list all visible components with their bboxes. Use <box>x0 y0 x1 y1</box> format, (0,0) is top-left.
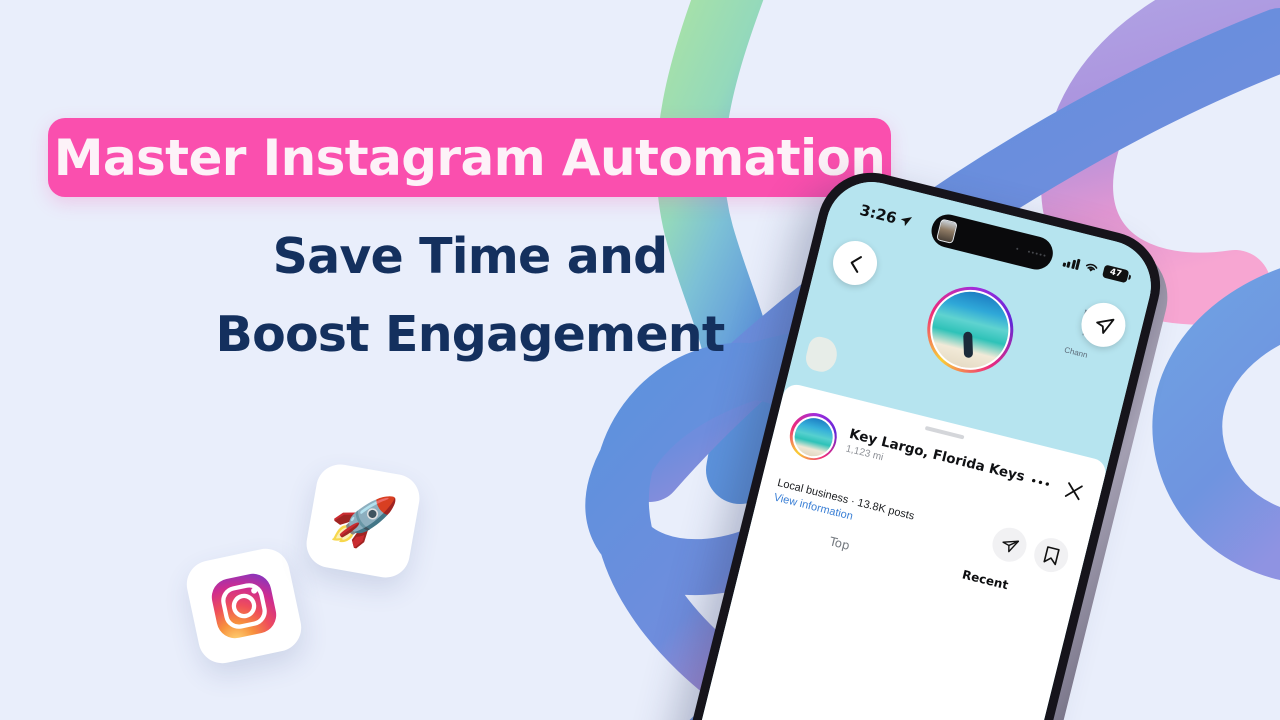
navigate-arrow-icon <box>1091 312 1116 337</box>
island-live-activity-thumbnail <box>936 218 958 243</box>
paper-plane-icon <box>998 533 1021 556</box>
bookmark-icon <box>1041 544 1062 567</box>
status-time-text: 3:26 <box>858 201 899 227</box>
save-button[interactable] <box>1031 534 1072 575</box>
subheadline: Save Time and Boost Engagement <box>110 218 830 374</box>
sheet-drag-handle[interactable] <box>925 426 965 440</box>
app-tile-instagram[interactable] <box>182 544 305 667</box>
place-avatar[interactable] <box>785 408 842 465</box>
subheadline-line-2: Boost Engagement <box>110 296 830 374</box>
close-x-icon <box>1062 479 1085 502</box>
rocket-icon: 🚀 <box>327 490 400 552</box>
close-sheet-button[interactable] <box>1060 477 1087 504</box>
location-arrow-icon <box>899 214 914 229</box>
island-bar <box>1016 247 1018 249</box>
wifi-icon <box>1083 260 1100 275</box>
place-avatar-image <box>788 411 839 462</box>
status-indicators: 47 <box>1062 254 1130 283</box>
chevron-left-icon <box>845 252 864 274</box>
cellular-bars-icon <box>1062 255 1081 270</box>
share-button[interactable] <box>989 524 1030 565</box>
ellipsis-icon <box>1030 477 1051 488</box>
battery-level-text: 47 <box>1109 267 1123 280</box>
headline-badge: Master Instagram Automation <box>48 118 891 197</box>
island-indicator-dots <box>1016 247 1046 256</box>
more-options-button[interactable] <box>1027 469 1054 496</box>
sheet-header-actions <box>1027 467 1087 504</box>
map-city-label: Chann <box>1064 345 1089 359</box>
hero-banner: Master Instagram Automation Save Time an… <box>0 0 1280 720</box>
battery-icon: 47 <box>1102 264 1129 283</box>
instagram-logo-icon <box>207 569 281 643</box>
story-avatar-subject <box>963 331 973 357</box>
status-time-group: 3:26 <box>858 201 914 231</box>
map-land-shape <box>804 334 841 374</box>
app-tile-rocket[interactable]: 🚀 <box>303 461 423 581</box>
sheet-action-buttons <box>989 524 1072 576</box>
subheadline-line-1: Save Time and <box>110 218 830 296</box>
headline-title: Master Instagram Automation <box>54 133 886 183</box>
